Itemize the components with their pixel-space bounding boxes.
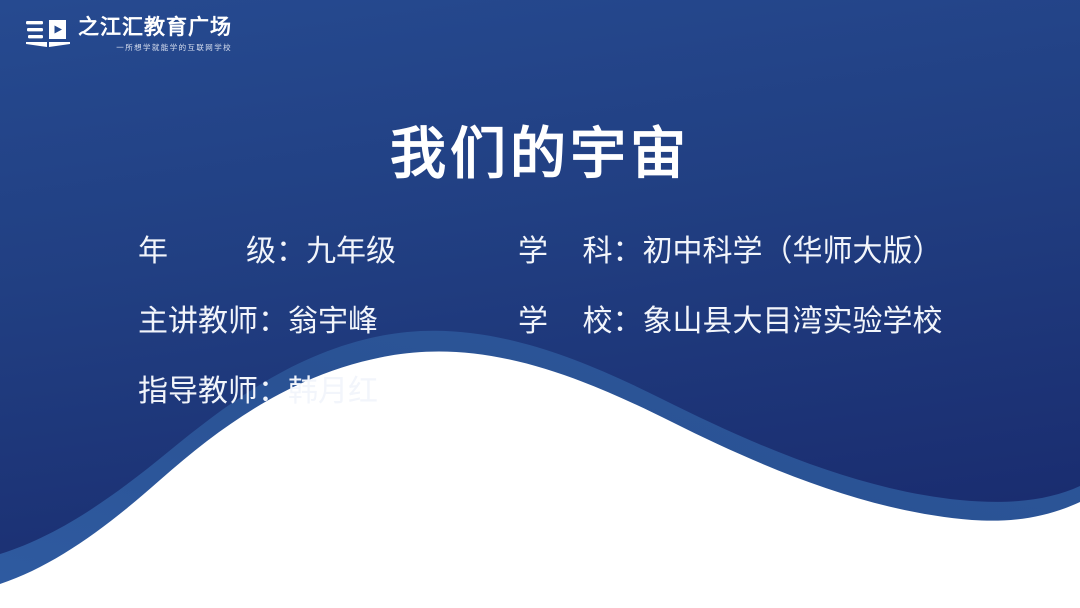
book-play-icon	[26, 17, 70, 49]
brand-logo: 之江汇教育广场 一所想学就能学的互联网学校	[26, 16, 232, 58]
info-school-label-b: 校	[583, 305, 613, 338]
info-row: 年级：九年级 学科：初中科学（华师大版）	[138, 232, 1018, 302]
info-subject-value: 初中科学（华师大版）	[643, 235, 943, 268]
info-grade-value: 九年级	[306, 235, 396, 268]
presentation-slide: 之江汇教育广场 一所想学就能学的互联网学校 我们的宇宙 年级：九年级 学科：初中…	[0, 0, 1080, 608]
info-lecturer-value: 翁宇峰	[288, 305, 378, 338]
logo-title: 之江汇教育广场	[78, 16, 232, 40]
info-lecturer-label: 主讲教师	[138, 305, 258, 338]
slide-info-block: 年级：九年级 学科：初中科学（华师大版） 主讲教师：翁宇峰 学校：象山县大目湾实…	[138, 232, 1018, 442]
info-grade-label-b: 级	[246, 235, 276, 268]
info-advisor-colon: ：	[258, 375, 288, 408]
info-lecturer: 主讲教师：翁宇峰	[138, 302, 518, 342]
info-subject-label-a: 学	[518, 235, 548, 268]
info-subject-label-b: 科	[583, 235, 613, 268]
info-grade-colon: ：	[276, 235, 306, 268]
info-row: 指导教师：韩月红	[138, 372, 1018, 442]
info-lecturer-colon: ：	[258, 305, 288, 338]
logo-subtitle: 一所想学就能学的互联网学校	[78, 42, 232, 53]
page-title: 我们的宇宙	[0, 121, 1080, 187]
info-school-value: 象山县大目湾实验学校	[643, 305, 943, 338]
info-school-colon: ：	[613, 305, 643, 338]
info-advisor-label: 指导教师	[138, 375, 258, 408]
info-advisor-value: 韩月红	[288, 375, 378, 408]
info-grade: 年级：九年级	[138, 232, 518, 272]
info-row: 主讲教师：翁宇峰 学校：象山县大目湾实验学校	[138, 302, 1018, 372]
info-subject-colon: ：	[613, 235, 643, 268]
info-subject: 学科：初中科学（华师大版）	[518, 232, 1018, 272]
info-advisor: 指导教师：韩月红	[138, 372, 518, 412]
info-school-label-a: 学	[518, 305, 548, 338]
info-school: 学校：象山县大目湾实验学校	[518, 302, 1018, 342]
info-grade-label-a: 年	[138, 235, 168, 268]
